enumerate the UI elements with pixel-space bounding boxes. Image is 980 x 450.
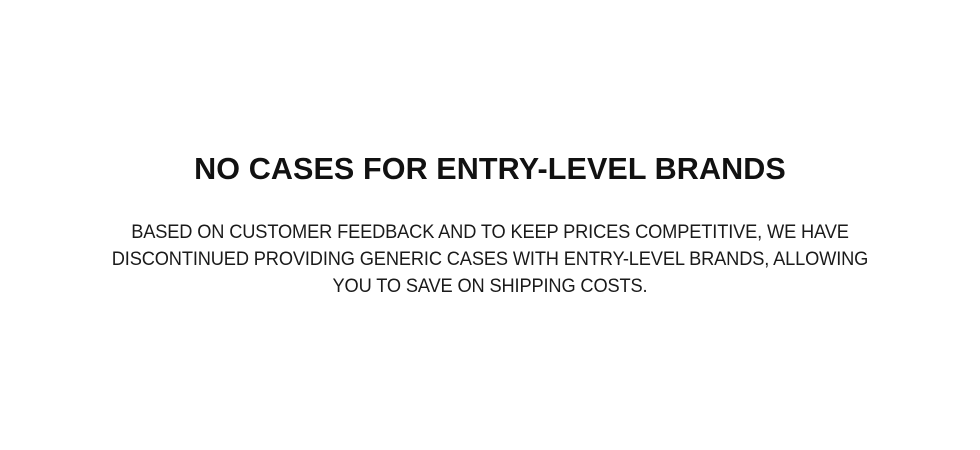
notice-banner: NO CASES FOR ENTRY-LEVEL BRANDS BASED ON… (0, 0, 980, 450)
notice-description-line-2: DISCONTINUED PROVIDING GENERIC CASES WIT… (106, 246, 874, 273)
notice-description: BASED ON CUSTOMER FEEDBACK AND TO KEEP P… (106, 188, 874, 300)
notice-description-line-1: BASED ON CUSTOMER FEEDBACK AND TO KEEP P… (106, 219, 874, 246)
notice-content: NO CASES FOR ENTRY-LEVEL BRANDS BASED ON… (70, 150, 910, 300)
page-title: NO CASES FOR ENTRY-LEVEL BRANDS (76, 150, 903, 188)
notice-description-line-3: YOU TO SAVE ON SHIPPING COSTS. (106, 273, 874, 300)
